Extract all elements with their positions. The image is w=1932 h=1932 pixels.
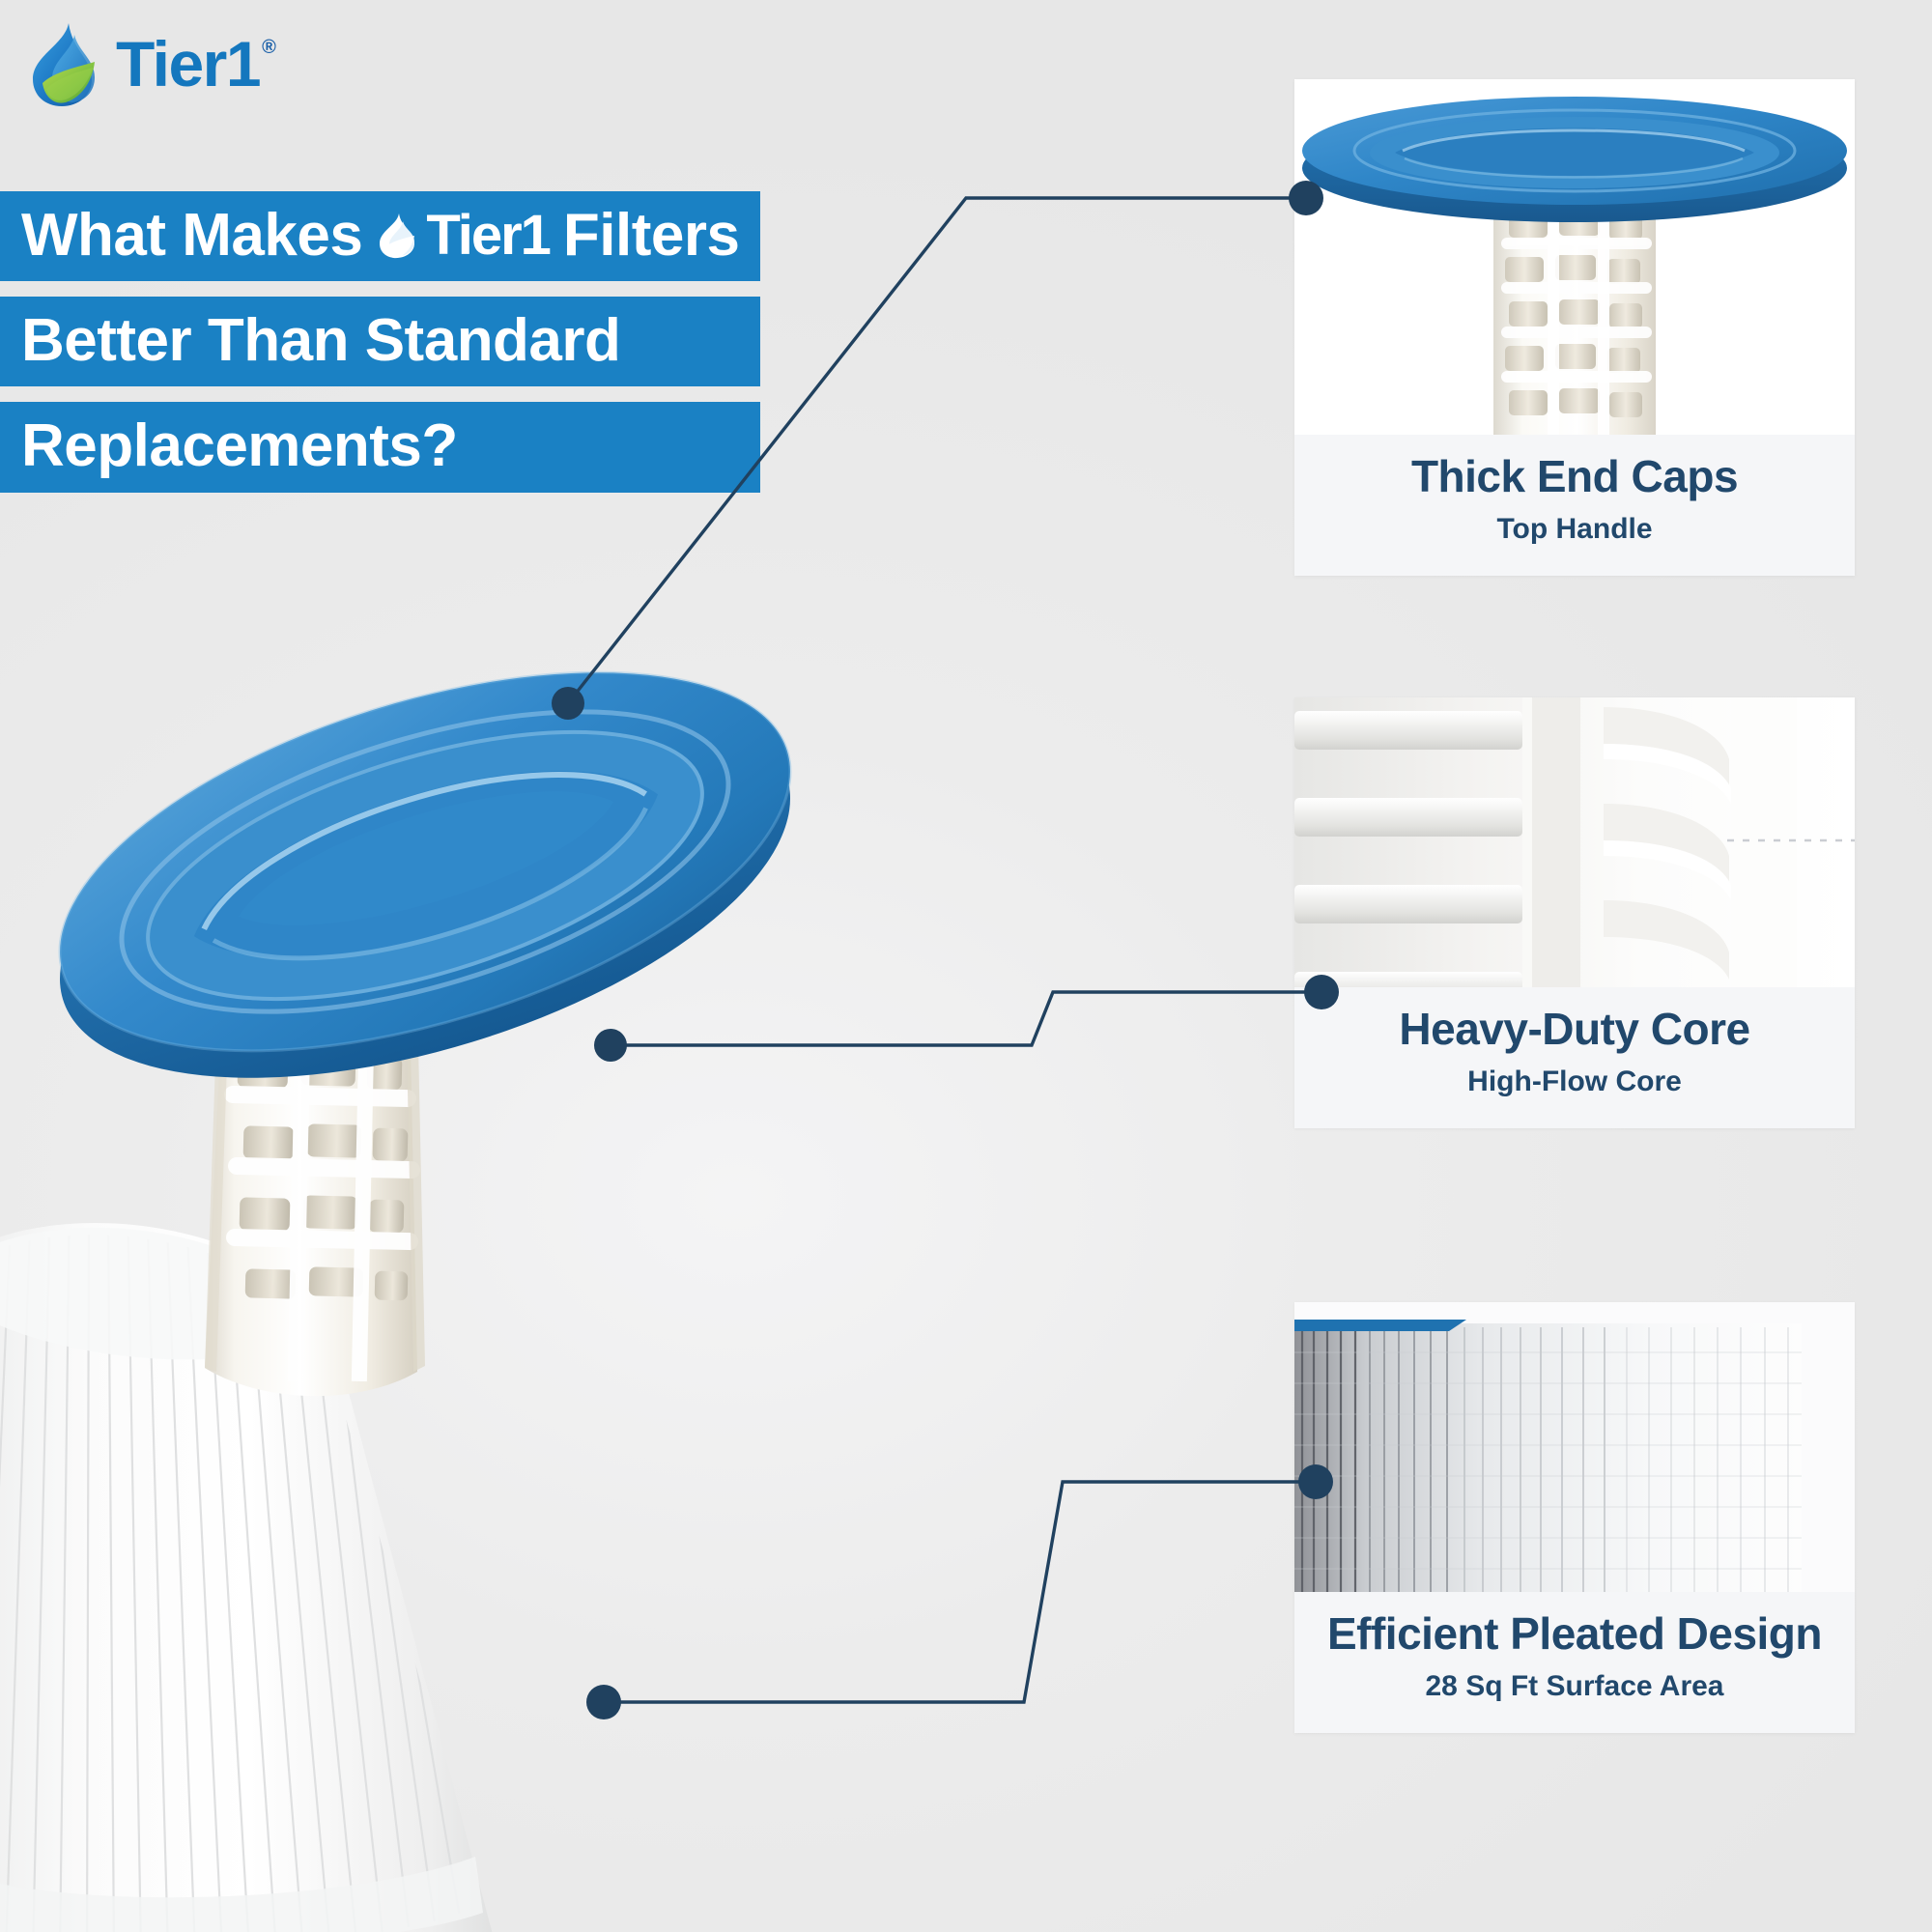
feature-title: Thick End Caps <box>1304 452 1845 502</box>
feature-caption-thick-end-caps: Thick End Caps Top Handle <box>1294 435 1855 576</box>
feature-card-efficient-pleated-design[interactable]: Efficient Pleated Design 28 Sq Ft Surfac… <box>1294 1302 1855 1733</box>
page-title: What Makes Tier1 Filters Better Than Sta… <box>0 191 760 493</box>
end-cap-illustration <box>1298 87 1851 232</box>
feature-card-thick-end-caps[interactable]: Thick End Caps Top Handle <box>1294 79 1855 576</box>
feature-photo-core <box>1294 697 1855 987</box>
brand-logo: Tier1 ® <box>25 19 276 108</box>
core-macro-illustration <box>1294 697 1855 987</box>
headline-line-1-post: Filters <box>563 205 740 266</box>
headline-line-2: Better Than Standard <box>0 297 760 386</box>
feature-title: Heavy-Duty Core <box>1304 1005 1845 1055</box>
feature-caption-efficient-pleated-design: Efficient Pleated Design 28 Sq Ft Surfac… <box>1294 1592 1855 1733</box>
water-droplet-leaf-icon <box>25 19 110 108</box>
pleated-media-macro-illustration <box>1294 1302 1855 1592</box>
headline-line-1-pre: What Makes <box>21 205 362 266</box>
feature-caption-heavy-duty-core: Heavy-Duty Core High-Flow Core <box>1294 987 1855 1128</box>
headline-line-1: What Makes Tier1 Filters <box>0 191 760 281</box>
headline-brand: Tier1 <box>426 207 550 264</box>
feature-photo-pleats <box>1294 1302 1855 1592</box>
infographic-canvas: Tier1 ® What Makes Tier1 Filters Better … <box>0 0 1932 1932</box>
headline-line-3: Replacements? <box>0 402 760 492</box>
feature-subtitle: 28 Sq Ft Surface Area <box>1304 1669 1845 1704</box>
feature-card-heavy-duty-core[interactable]: Heavy-Duty Core High-Flow Core <box>1294 697 1855 1128</box>
water-droplet-icon <box>376 212 420 260</box>
brand-wordmark: Tier1 <box>116 32 260 96</box>
feature-title: Efficient Pleated Design <box>1304 1609 1845 1660</box>
registered-mark: ® <box>262 38 276 57</box>
feature-subtitle: High-Flow Core <box>1304 1065 1845 1099</box>
blue-end-cap <box>16 598 835 1153</box>
feature-subtitle: Top Handle <box>1304 512 1845 547</box>
feature-photo-end-cap <box>1294 79 1855 435</box>
product-image-pool-filter-cartridge <box>0 522 908 1932</box>
